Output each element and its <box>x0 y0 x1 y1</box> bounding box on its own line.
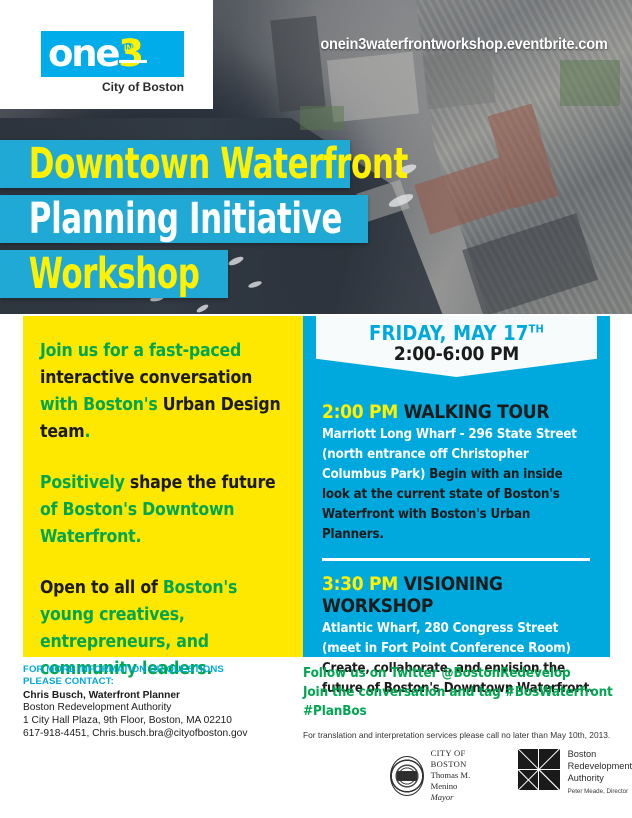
city-seal-line-2: Thomas M. Menino <box>431 770 492 792</box>
event-date-text: FRIDAY, MAY 17 <box>369 321 529 345</box>
bra-logo: Boston Redevelopment Authority Peter Mea… <box>518 748 632 798</box>
left-yellow-panel: Join us for a fast-paced interactive con… <box>23 316 303 657</box>
headline-line-3: Workshop <box>0 249 200 299</box>
twitter-handle-line[interactable]: Follow us on Twitter @BostonRedevelop <box>303 664 623 683</box>
contact-heading-2: PLEASE CONTACT: <box>23 676 298 688</box>
social-block: Follow us on Twitter @BostonRedevelop Jo… <box>303 664 623 740</box>
text-run-5: Boston's <box>83 395 157 415</box>
bra-line-2: Redevelopment <box>568 760 632 772</box>
onein3-rule <box>119 60 147 63</box>
onein3-logo-block: one3 IN City of Boston <box>0 0 213 109</box>
text-run-0: Join us for a fast-paced <box>40 341 241 361</box>
contact-block: FOR MORE INFORMATION OR QUESTIONS PLEASE… <box>23 664 298 740</box>
event-list: 2:00 PM WALKING TOUR Marriott Long Wharf… <box>322 401 594 699</box>
contact-phone-email[interactable]: 617-918-4451, Chris.busch.bra@cityofbost… <box>23 727 298 740</box>
bra-line-3: Authority <box>568 772 632 784</box>
text-run-2: interactive conversation <box>40 368 252 388</box>
left-paragraph-1: Join us for a fast-paced interactive con… <box>40 338 283 446</box>
headline-line-1: Downtown Waterfront <box>0 139 408 189</box>
contact-address: 1 City Hall Plaza, 9th Floor, Boston, MA… <box>23 714 298 727</box>
event-1-heading: 2:00 PM WALKING TOUR <box>322 401 594 423</box>
text-run-1: shape the future <box>125 473 276 493</box>
onein3-word-3: 3 <box>118 32 142 75</box>
building-block <box>422 49 495 110</box>
left-paragraph-2: Positively shape the future of Boston's … <box>40 470 283 551</box>
event-date-ordinal: TH <box>529 322 544 335</box>
contact-heading-1: FOR MORE INFORMATION OR QUESTIONS <box>23 664 298 676</box>
bra-director: Peter Meade, Director <box>568 786 632 798</box>
text-run-0: Positively <box>40 473 125 493</box>
city-seal-line-3: Mayor <box>431 792 492 803</box>
onein3-word-one: one <box>48 32 118 75</box>
bra-mark-icon <box>518 748 560 790</box>
onein3-logo-mark: one3 IN <box>41 31 184 77</box>
text-run-3: with <box>40 395 78 415</box>
headline-line-2: Planning Initiative <box>0 194 342 244</box>
contact-name: Chris Busch, Waterfront Planner <box>23 690 298 701</box>
city-seal-text: CITY OF BOSTON Thomas M. Menino Mayor <box>431 748 492 803</box>
event-2-location: Atlantic Wharf, 280 Congress Street (mee… <box>322 621 571 656</box>
city-seal-line-1: CITY OF BOSTON <box>431 748 492 770</box>
event-1-title: WALKING TOUR <box>404 401 550 423</box>
eventbrite-url[interactable]: onein3waterfrontworkshop.eventbrite.com <box>321 36 608 54</box>
translation-note: For translation and interpretation servi… <box>303 730 623 740</box>
contact-org: Boston Redevelopment Authority <box>23 701 298 714</box>
event-date: FRIDAY, MAY 17TH <box>316 321 597 345</box>
text-run-2: of <box>40 500 57 520</box>
headline-bar-3: Workshop <box>0 250 228 298</box>
headline-bar-1: Downtown Waterfront <box>0 140 350 188</box>
city-of-boston-logo: CITY OF BOSTON Thomas M. Menino Mayor <box>390 748 492 803</box>
left-panel-copy: Join us for a fast-paced interactive con… <box>23 316 303 683</box>
onein3-word-in: IN <box>124 43 133 53</box>
park-green <box>300 106 344 130</box>
event-divider <box>322 558 590 561</box>
event-2-heading: 3:30 PM VISIONING WORKSHOP <box>322 573 594 617</box>
partner-logos: CITY OF BOSTON Thomas M. Menino Mayor Bo… <box>390 748 632 803</box>
bra-line-1: Boston <box>568 748 632 760</box>
city-of-boston-label: City of Boston <box>41 80 184 94</box>
event-item-1: 2:00 PM WALKING TOUR Marriott Long Wharf… <box>322 401 594 545</box>
building-block <box>270 16 325 112</box>
bra-text: Boston Redevelopment Authority Peter Mea… <box>568 748 632 798</box>
onein3-wordmark: one3 <box>41 31 184 77</box>
poster-root: onein3waterfrontworkshop.eventbrite.com … <box>0 0 632 818</box>
event-1-body: Marriott Long Wharf - 296 State Street (… <box>322 425 594 545</box>
city-seal-icon <box>390 756 424 796</box>
event-time-range: 2:00-6:00 PM <box>316 343 597 365</box>
park-green <box>560 60 620 106</box>
event-1-time: 2:00 PM <box>322 401 398 423</box>
event-2-time: 3:30 PM <box>322 573 398 595</box>
text-run-4: Boston's Downtown Waterfront. <box>40 500 234 547</box>
text-run-0: Open to all of <box>40 578 158 598</box>
headline-bar-2: Planning Initiative <box>0 195 368 243</box>
text-run-7: . <box>84 422 90 442</box>
hashtags-line[interactable]: Join the conversation and tag #BosWaterf… <box>303 683 623 721</box>
